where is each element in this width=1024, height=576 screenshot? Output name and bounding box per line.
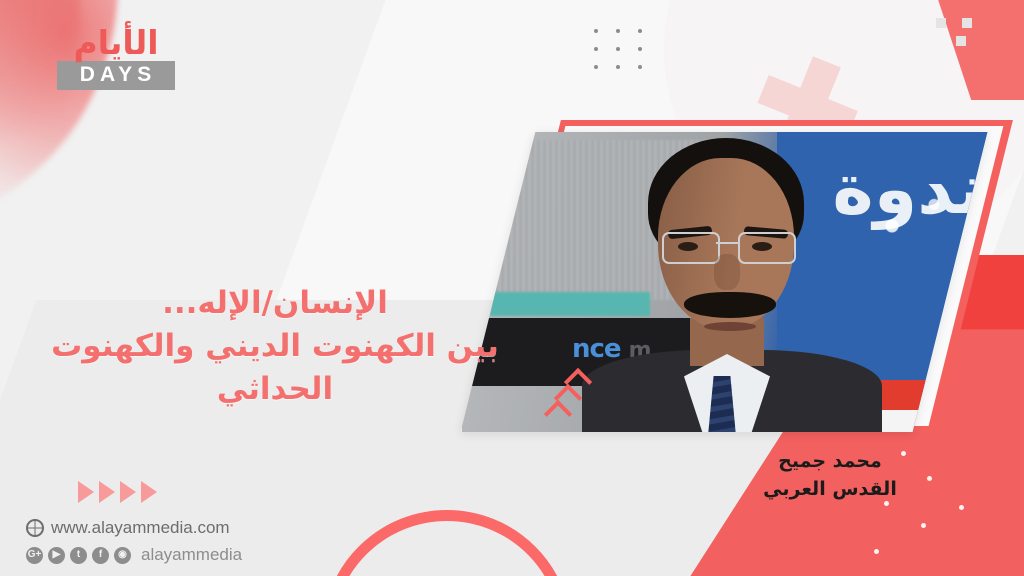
social-handle: alayammedia: [141, 545, 242, 565]
headline: الإنسان/الإله... بين الكهنوت الديني والك…: [40, 282, 510, 411]
grid-dot: [638, 65, 642, 69]
glasses-lens-right: [738, 232, 796, 264]
grid-dot: [638, 47, 642, 51]
corner-square-icon-3: [956, 36, 966, 46]
youtube-icon[interactable]: ▶: [48, 547, 65, 564]
grid-dot: [594, 47, 598, 51]
instagram-icon[interactable]: ◉: [114, 547, 131, 564]
triangle-right-icon: [78, 481, 94, 503]
glasses-bridge: [716, 242, 738, 244]
scatter-dot: [921, 523, 926, 528]
grid-dot: [594, 65, 598, 69]
author-name: محمد جميح: [700, 447, 960, 475]
photo-moustache: [684, 292, 776, 318]
grid-dot: [594, 29, 598, 33]
logo-arabic-text: الأيام: [57, 26, 175, 59]
headline-line-1: الإنسان/الإله...: [40, 282, 510, 325]
triangle-right-icon: [120, 481, 136, 503]
brand-logo[interactable]: الأيام DAYS: [57, 26, 175, 90]
scatter-dot: [874, 549, 879, 554]
triangle-right-icon: [141, 481, 157, 503]
triangle-right-icon: [99, 481, 115, 503]
globe-icon: [26, 519, 44, 537]
social-media-card: الأيام DAYS nce m ندوة: [0, 0, 1024, 576]
twitter-icon[interactable]: t: [70, 547, 87, 564]
photo-teal-band: [490, 292, 650, 316]
author-source: القدس العربي: [700, 475, 960, 503]
grid-dot: [616, 65, 620, 69]
glasses-lens-left: [662, 232, 720, 264]
google-plus-icon[interactable]: G+: [26, 547, 43, 564]
logo-latin-text: DAYS: [57, 61, 175, 90]
headline-line-2: بين الكهنوت الديني والكهنوت: [40, 325, 510, 368]
photo-nose: [714, 254, 740, 290]
headline-line-3: الحداثي: [40, 368, 510, 411]
facebook-icon[interactable]: f: [92, 547, 109, 564]
social-links[interactable]: G+ ▶ t f ◉ alayammedia: [26, 545, 242, 565]
dot-grid-decoration: [594, 29, 660, 83]
grid-dot: [638, 29, 642, 33]
website-link[interactable]: www.alayammedia.com: [26, 518, 230, 538]
corner-square-icon-2: [962, 18, 972, 28]
website-url: www.alayammedia.com: [51, 518, 230, 538]
byline: محمد جميح القدس العربي: [700, 447, 960, 503]
scatter-dot: [959, 505, 964, 510]
photo-arabic-backdrop-text: ندوة: [832, 150, 984, 228]
photo-mouth: [704, 322, 756, 331]
grid-dot: [616, 47, 620, 51]
author-photo: nce m ندوة: [461, 132, 988, 432]
grid-dot: [616, 29, 620, 33]
arrow-decoration: [78, 481, 157, 503]
author-photo-content: nce m ندوة: [462, 132, 987, 432]
corner-square-icon-1: [936, 18, 946, 28]
